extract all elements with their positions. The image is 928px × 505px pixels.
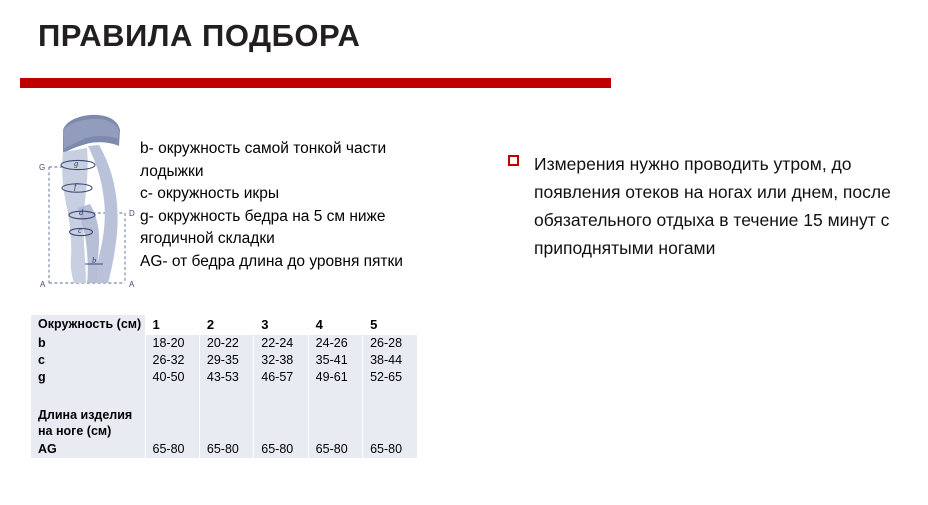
corner-label-A-left: A (40, 280, 46, 289)
measure-label-g: g (74, 158, 78, 168)
cell: 46-57 (254, 369, 308, 386)
row-label (31, 386, 145, 406)
cell: 52-65 (363, 369, 417, 386)
row-label: AG (31, 441, 145, 458)
corner-label-G: G (39, 163, 45, 172)
leg-measurement-diagram: g f d c b G D A A (30, 112, 148, 307)
cell: 65-80 (308, 441, 362, 458)
cell: 38-44 (363, 352, 417, 369)
cell (145, 386, 199, 406)
cell: 49-61 (308, 369, 362, 386)
cell (254, 386, 308, 406)
legend-line: b- окружность самой тонкой части (140, 138, 440, 161)
page-title: ПРАВИЛА ПОДБОРА (38, 18, 360, 54)
header-label: Окружность (см) (31, 315, 145, 335)
cell: 24-26 (308, 335, 362, 352)
cell (308, 406, 362, 441)
header-size-5: 5 (363, 315, 417, 335)
header-size-3: 3 (254, 315, 308, 335)
measure-label-b: b (92, 255, 96, 265)
section-label-line1: Длина изделия (38, 408, 132, 422)
table-row: AG 65-80 65-80 65-80 65-80 65-80 (31, 441, 417, 458)
corner-label-A-right: A (129, 280, 135, 289)
header-size-4: 4 (308, 315, 362, 335)
header-size-2: 2 (199, 315, 253, 335)
title-accent-rule (20, 78, 611, 88)
cell (254, 406, 308, 441)
cell: 26-28 (363, 335, 417, 352)
legend-line: ягодичной складки (140, 228, 440, 251)
table-section-row: Длина изделияна ноге (см) (31, 406, 417, 441)
cell (199, 406, 253, 441)
cell: 40-50 (145, 369, 199, 386)
cell: 22-24 (254, 335, 308, 352)
corner-label-D: D (129, 209, 135, 218)
legend-line: AG- от бедра длина до уровня пятки (140, 251, 440, 274)
legend-line: g- окружность бедра на 5 см ниже (140, 206, 440, 229)
cell: 32-38 (254, 352, 308, 369)
cell: 65-80 (363, 441, 417, 458)
table-row: b 18-20 20-22 22-24 24-26 26-28 (31, 335, 417, 352)
note-text: Измерения нужно проводить утром, до появ… (508, 150, 908, 262)
cell: 65-80 (199, 441, 253, 458)
table-row: c 26-32 29-35 32-38 35-41 38-44 (31, 352, 417, 369)
table-row: g 40-50 43-53 46-57 49-61 52-65 (31, 369, 417, 386)
cell: 18-20 (145, 335, 199, 352)
cell: 26-32 (145, 352, 199, 369)
table-header-row: Окружность (см) 1 2 3 4 5 (31, 315, 417, 335)
cell: 35-41 (308, 352, 362, 369)
cell (363, 406, 417, 441)
cell (308, 386, 362, 406)
section-label: Длина изделияна ноге (см) (31, 406, 145, 441)
measurement-note: Измерения нужно проводить утром, до появ… (508, 150, 908, 262)
legend-line: c- окружность икры (140, 183, 440, 206)
size-chart-table: Окружность (см) 1 2 3 4 5 b 18-20 20-22 … (31, 315, 417, 458)
cell: 20-22 (199, 335, 253, 352)
section-label-line2: на ноге (см) (38, 424, 111, 438)
cell: 65-80 (254, 441, 308, 458)
row-label: b (31, 335, 145, 352)
table-spacer-row (31, 386, 417, 406)
header-size-1: 1 (145, 315, 199, 335)
legend-line: лодыжки (140, 161, 440, 184)
cell (199, 386, 253, 406)
measure-label-c: c (78, 225, 82, 235)
row-label: g (31, 369, 145, 386)
cell: 43-53 (199, 369, 253, 386)
row-label: c (31, 352, 145, 369)
square-bullet-icon (508, 155, 519, 166)
cell (363, 386, 417, 406)
cell: 65-80 (145, 441, 199, 458)
cell: 29-35 (199, 352, 253, 369)
cell (145, 406, 199, 441)
measurement-legend: b- окружность самой тонкой части лодыжки… (140, 138, 440, 273)
